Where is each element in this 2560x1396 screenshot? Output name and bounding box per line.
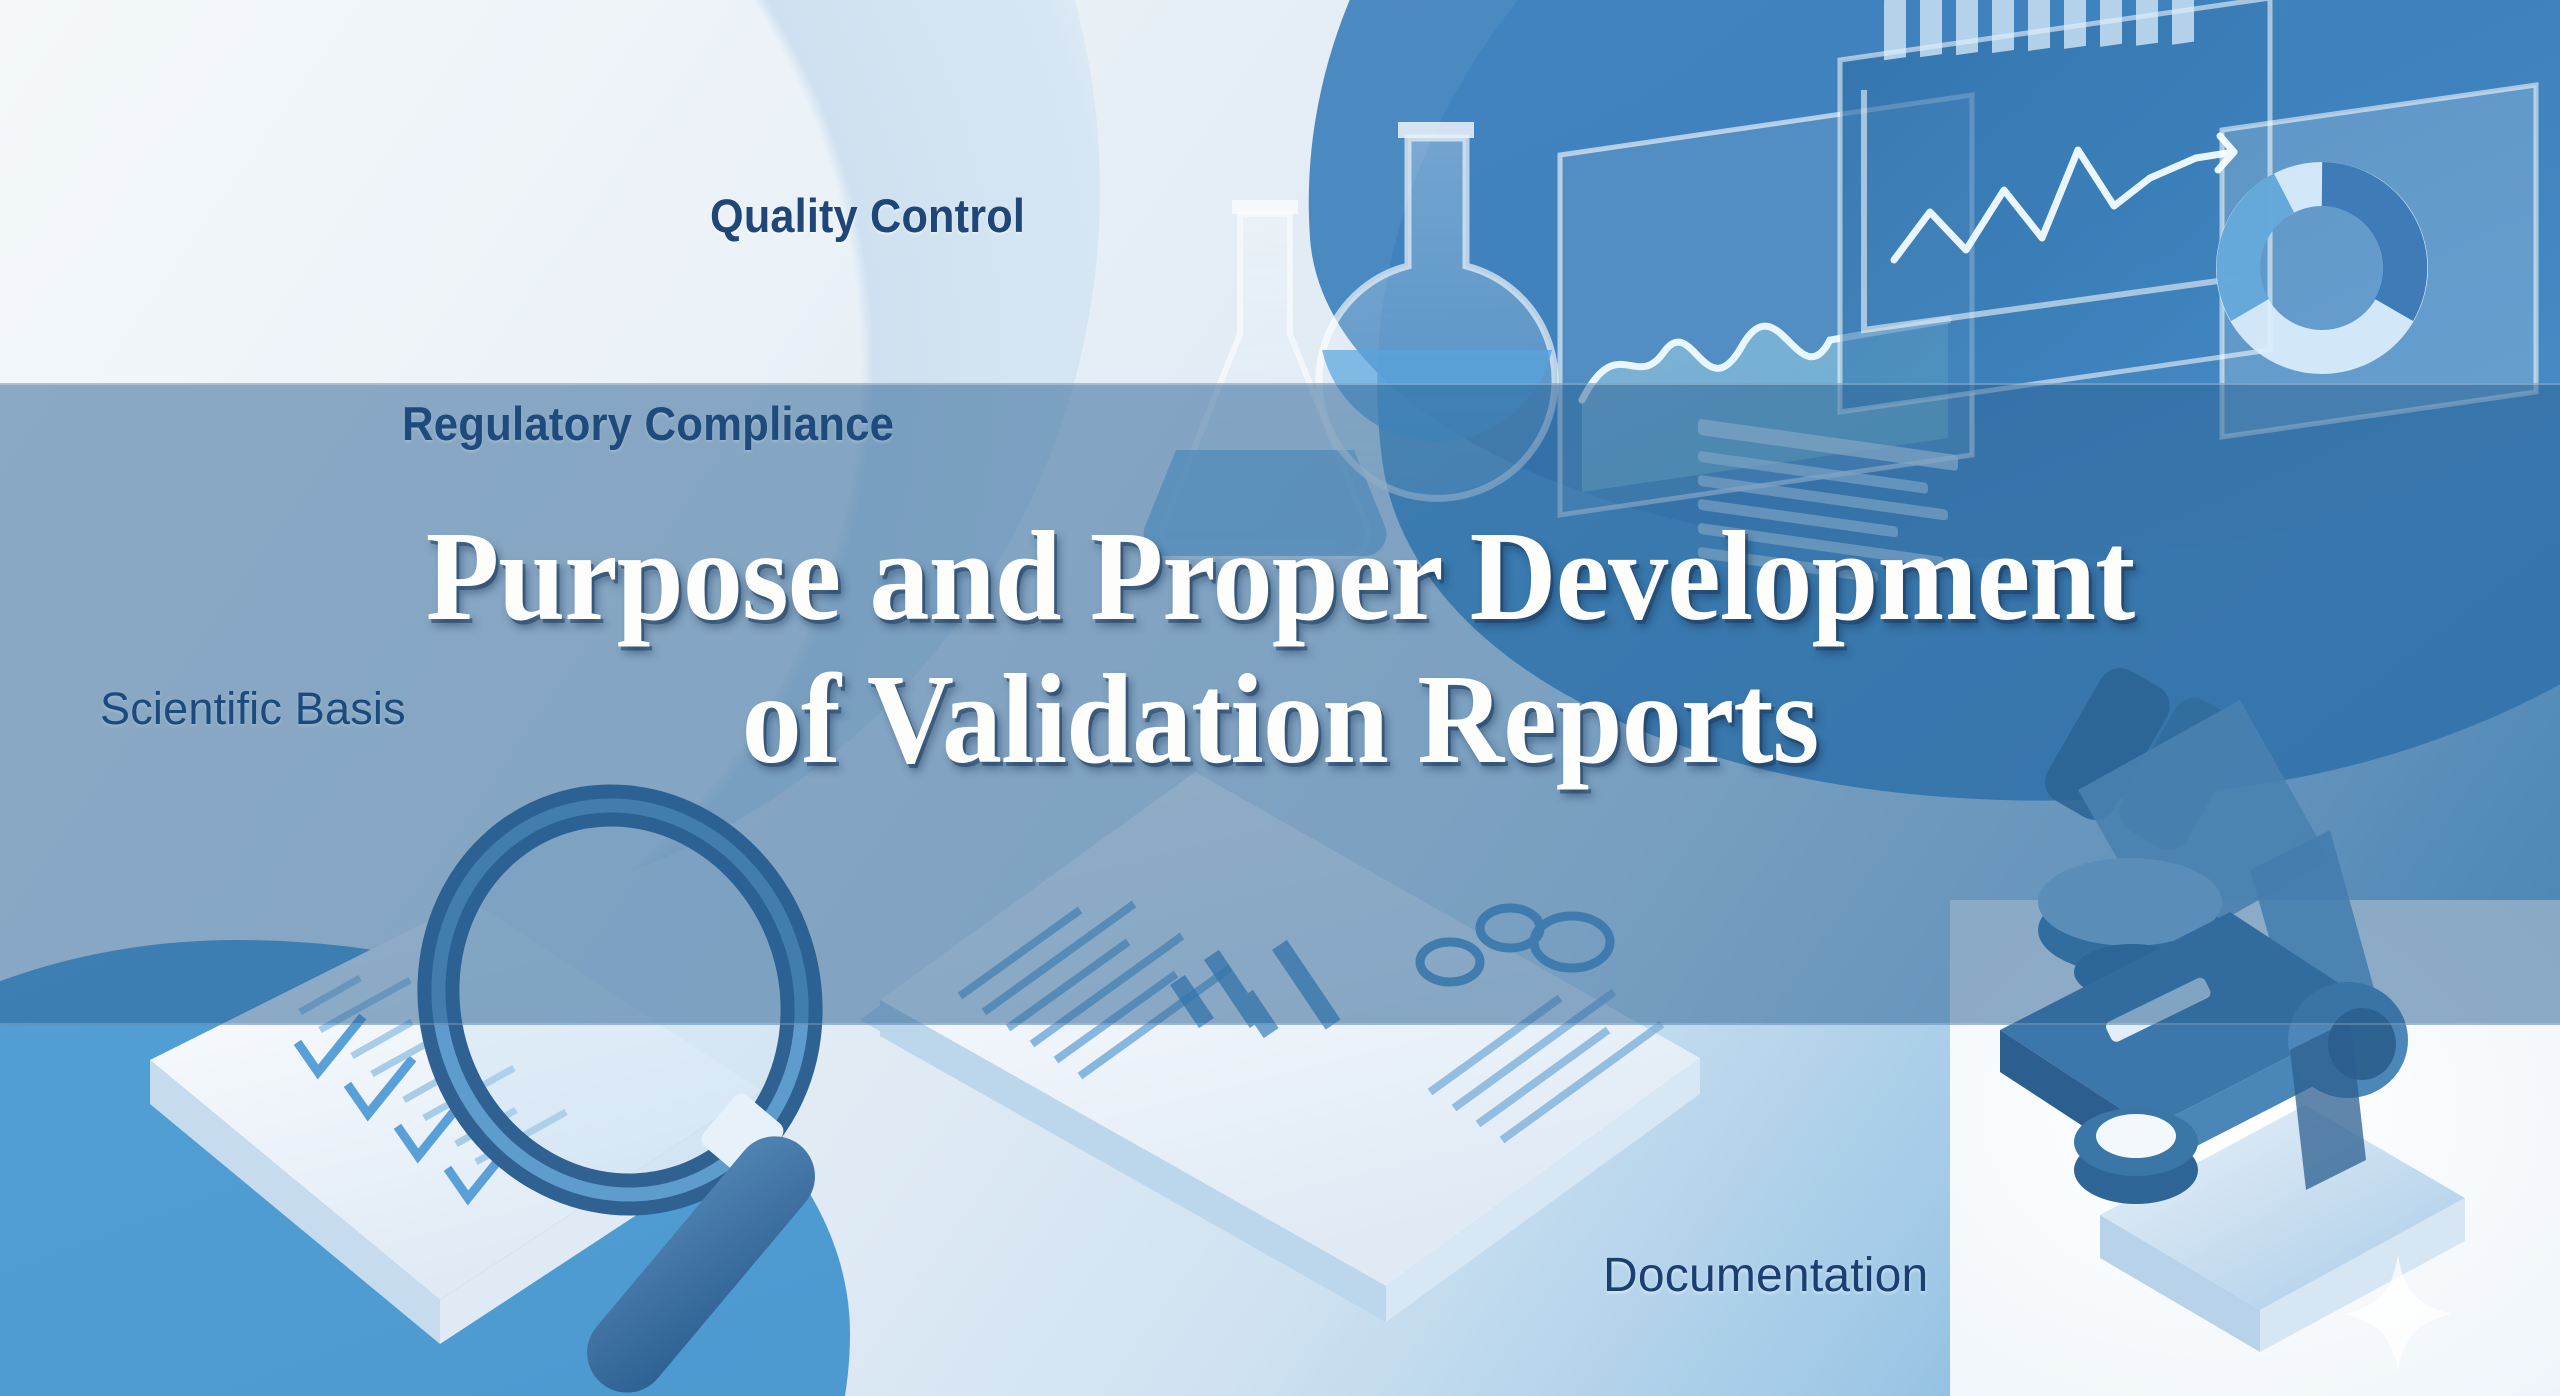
keyword-quality-control: Quality Control xyxy=(710,188,1025,243)
page-title-line-2: of Validation Reports xyxy=(77,648,2483,791)
keyword-documentation: Documentation xyxy=(1603,1248,1928,1303)
page-title: Purpose and Proper Development of Valida… xyxy=(0,505,2560,792)
keyword-regulatory-compliance: Regulatory Compliance xyxy=(402,396,894,451)
banner-root: Quality Control Regulatory Compliance Sc… xyxy=(0,0,2560,1396)
page-title-line-1: Purpose and Proper Development xyxy=(77,505,2483,648)
bar-line-chart-panel-icon xyxy=(1840,0,2270,412)
